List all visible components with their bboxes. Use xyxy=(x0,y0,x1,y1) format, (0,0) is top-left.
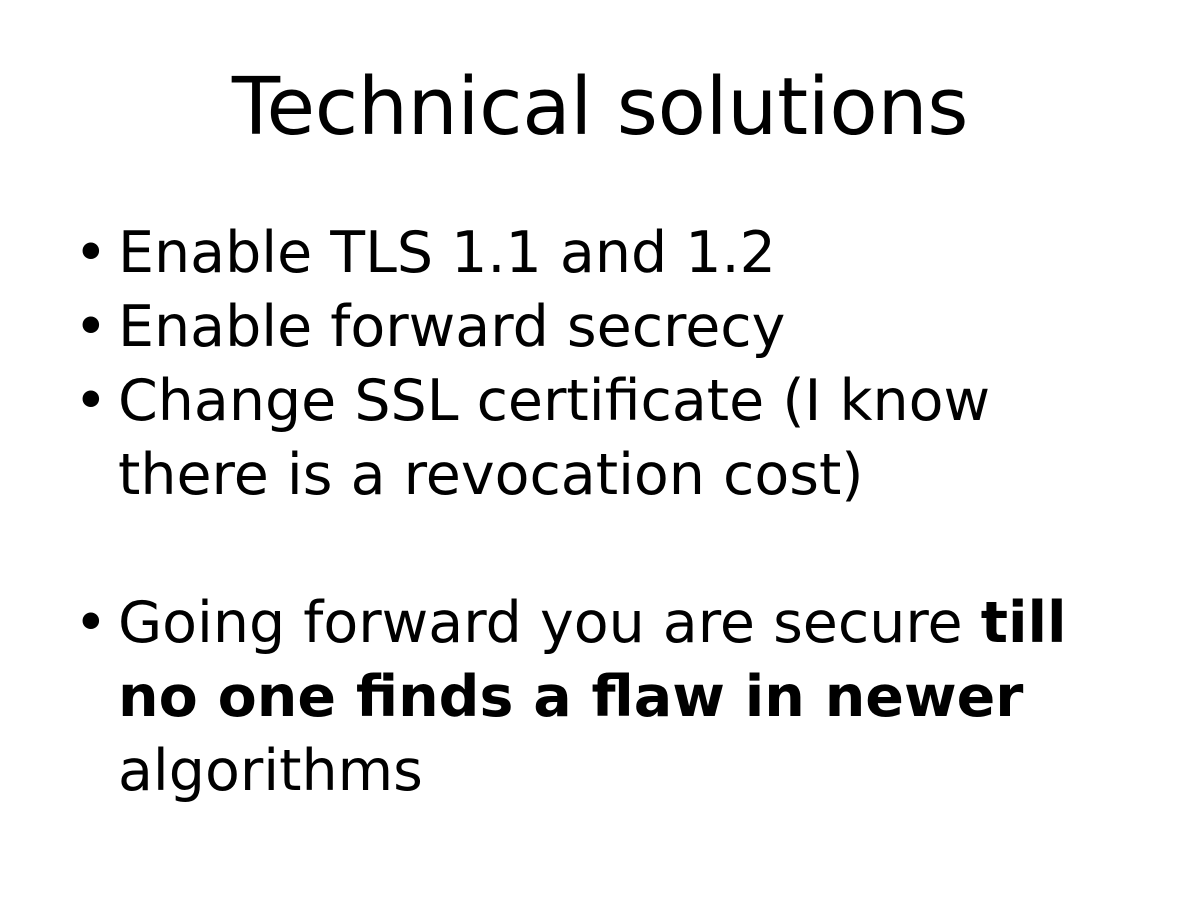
list-item: •Going forward you are secure till no on… xyxy=(70,586,1135,808)
plain-text: algorithms xyxy=(118,738,423,804)
list-item-text: Change SSL certificate (I know there is … xyxy=(118,368,990,508)
list-item: •Enable forward secrecy xyxy=(70,290,1135,364)
bullet-list: •Enable TLS 1.1 and 1.2•Enable forward s… xyxy=(70,216,1135,808)
plain-text: Change SSL certificate (I know there is … xyxy=(118,368,990,508)
plain-text: Going forward you are secure xyxy=(118,590,981,656)
list-item-text: Enable forward secrecy xyxy=(118,294,785,360)
list-item: •Enable TLS 1.1 and 1.2 xyxy=(70,216,1135,290)
slide: Technical solutions •Enable TLS 1.1 and … xyxy=(0,0,1200,900)
page-title: Technical solutions xyxy=(0,68,1200,147)
slide-body: •Enable TLS 1.1 and 1.2•Enable forward s… xyxy=(70,216,1135,808)
list-item-text: Enable TLS 1.1 and 1.2 xyxy=(118,220,776,286)
plain-text: Enable forward secrecy xyxy=(118,294,785,360)
bullet-marker-icon: • xyxy=(74,290,94,364)
bullet-marker-icon: • xyxy=(74,586,94,660)
bullet-marker-icon: • xyxy=(74,364,94,438)
list-item-text: Going forward you are secure till no one… xyxy=(118,590,1067,804)
bullet-marker-icon: • xyxy=(74,216,94,290)
list-item: •Change SSL certificate (I know there is… xyxy=(70,364,1135,512)
plain-text: Enable TLS 1.1 and 1.2 xyxy=(118,220,776,286)
